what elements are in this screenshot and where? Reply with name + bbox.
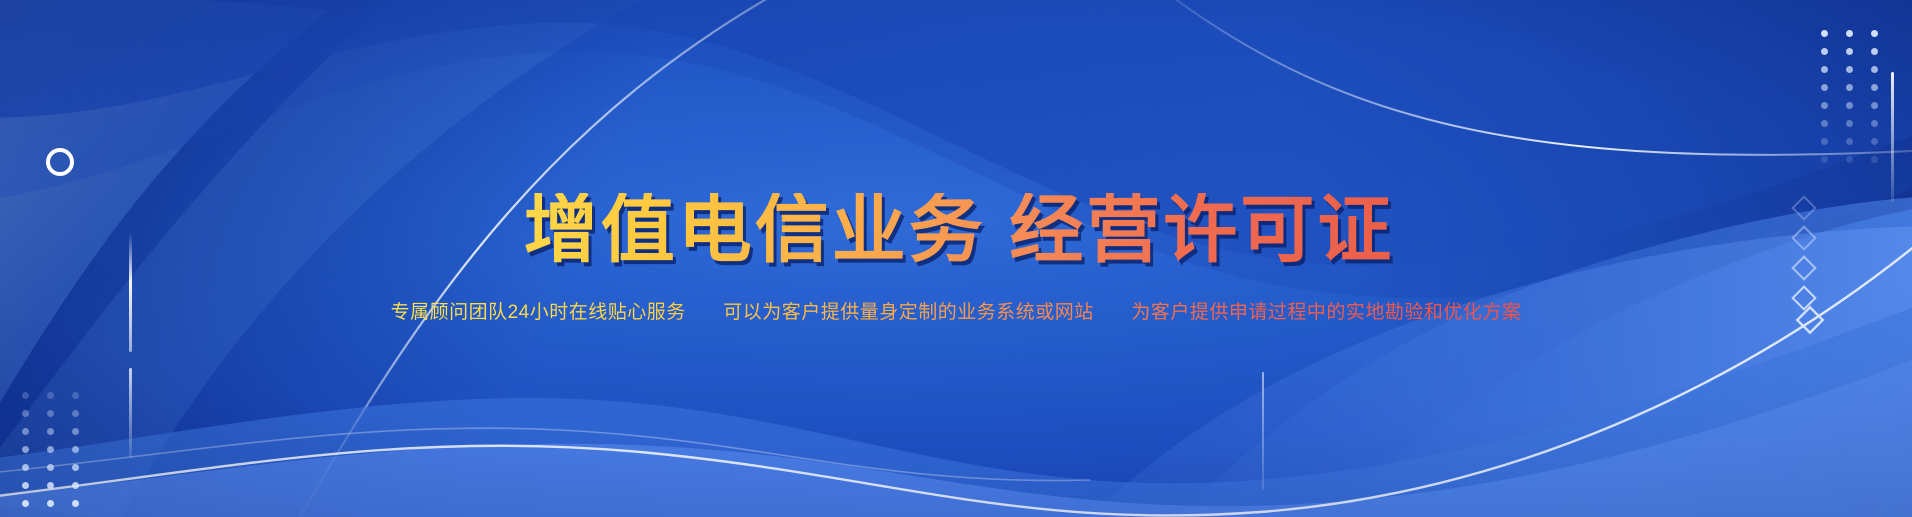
grid-dot [47, 500, 54, 507]
grid-dot [1846, 120, 1853, 127]
grid-dot [22, 410, 29, 417]
accent-bar-left [129, 232, 132, 352]
grid-dot [1821, 66, 1828, 73]
grid-dot [22, 500, 29, 507]
grid-dot [1871, 138, 1878, 145]
grid-dot [1821, 156, 1828, 163]
diamond-icon [1791, 195, 1816, 220]
grid-dot [47, 446, 54, 453]
accent-bar-right [1891, 72, 1894, 202]
grid-dot [1846, 156, 1853, 163]
grid-dot [1846, 30, 1853, 37]
grid-dot [47, 392, 54, 399]
grid-dot [1821, 30, 1828, 37]
grid-dot [1871, 66, 1878, 73]
background-vignette [0, 0, 1912, 517]
diamond-icon [1791, 255, 1816, 280]
grid-dot [1821, 120, 1828, 127]
grid-dot [47, 410, 54, 417]
grid-dot [22, 482, 29, 489]
grid-dot [72, 392, 79, 399]
dot-grid-top-right [1821, 30, 1878, 163]
grid-dot [72, 428, 79, 435]
grid-dot [1871, 30, 1878, 37]
grid-dot [1871, 120, 1878, 127]
diamond-decoration-column [1795, 196, 1813, 310]
grid-dot [47, 482, 54, 489]
grid-dot [47, 464, 54, 471]
grid-dot [1821, 84, 1828, 91]
grid-dot [72, 500, 79, 507]
grid-dot [22, 464, 29, 471]
grid-dot [1871, 102, 1878, 109]
promo-banner: 增值电信业务 经营许可证 专属顾问团队24小时在线贴心服务 可以为客户提供量身定… [0, 0, 1912, 517]
grid-dot [72, 482, 79, 489]
grid-dot [1821, 138, 1828, 145]
grid-dot [1821, 102, 1828, 109]
grid-dot [22, 392, 29, 399]
grid-dot [1871, 48, 1878, 55]
dot-grid-bottom-left [22, 392, 79, 517]
grid-dot [72, 446, 79, 453]
grid-dot [1871, 84, 1878, 91]
grid-dot [1846, 66, 1853, 73]
grid-dot [22, 428, 29, 435]
grid-dot [1821, 48, 1828, 55]
grid-dot [1846, 48, 1853, 55]
grid-dot [1846, 102, 1853, 109]
grid-dot [1846, 138, 1853, 145]
diamond-outline-icon [1790, 300, 1830, 340]
grid-dot [72, 464, 79, 471]
diamond-icon [1791, 225, 1816, 250]
ring-circle-icon [46, 148, 74, 176]
grid-dot [1871, 156, 1878, 163]
accent-bar-mid-right [1262, 372, 1264, 490]
accent-bar-left-lower [129, 368, 132, 458]
grid-dot [1846, 84, 1853, 91]
grid-dot [22, 446, 29, 453]
grid-dot [47, 428, 54, 435]
grid-dot [72, 410, 79, 417]
